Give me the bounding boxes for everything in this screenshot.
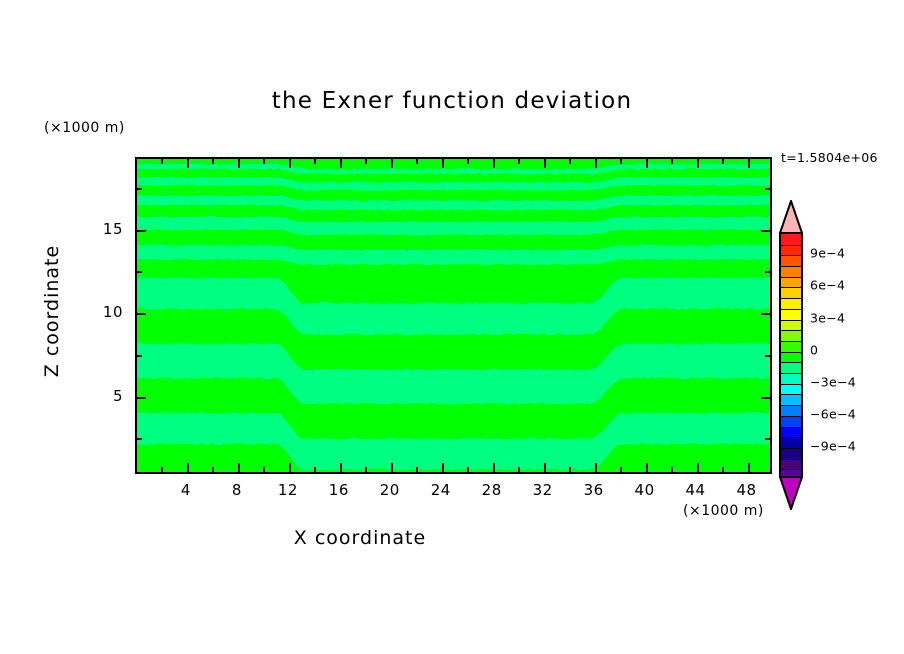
x-tick <box>493 159 495 168</box>
colorbar-band <box>781 287 801 298</box>
colorbar-band-divider <box>781 437 801 438</box>
colorbar-band <box>781 330 801 341</box>
y-tick <box>137 230 146 232</box>
x-tick <box>161 159 163 164</box>
x-tick <box>620 467 622 472</box>
colorbar-band-divider <box>781 469 801 470</box>
x-tick <box>748 159 750 168</box>
colorbar-band-divider <box>781 277 801 278</box>
x-tick <box>212 467 214 472</box>
colorbar-tick-label: 0 <box>810 342 818 357</box>
x-tick <box>238 159 240 168</box>
colorbar-band-divider <box>781 341 801 342</box>
colorbar-band-divider <box>781 362 801 363</box>
colorbar-band <box>781 427 801 438</box>
x-tick <box>314 467 316 472</box>
colorbar-band-divider <box>781 384 801 385</box>
contour-plot-area[interactable] <box>135 157 772 474</box>
colorbar-band <box>781 341 801 352</box>
x-tick <box>161 467 163 472</box>
x-tick <box>620 159 622 164</box>
y-axis-unit-label: (×1000 m) <box>44 120 125 136</box>
colorbar-band-divider <box>781 405 801 406</box>
time-annotation: t=1.5804e+06 <box>781 150 878 165</box>
colorbar-tick-label: 6e−4 <box>810 278 845 293</box>
x-tick-label: 20 <box>380 481 400 499</box>
y-tick <box>137 355 142 357</box>
x-tick <box>340 159 342 168</box>
x-tick-label: 16 <box>329 481 349 499</box>
y-tick <box>137 271 142 273</box>
y-tick <box>137 313 146 315</box>
x-tick <box>467 159 469 164</box>
x-tick <box>187 159 189 168</box>
x-tick-label: 32 <box>533 481 553 499</box>
x-tick <box>697 159 699 168</box>
colorbar-tick-label: −3e−4 <box>810 374 856 389</box>
x-tick <box>493 463 495 472</box>
colorbar-band <box>781 373 801 384</box>
colorbar-band <box>781 405 801 416</box>
y-tick <box>137 188 142 190</box>
x-tick <box>212 159 214 164</box>
x-tick <box>289 463 291 472</box>
x-tick <box>442 159 444 168</box>
x-tick-label: 40 <box>635 481 655 499</box>
colorbar-band-divider <box>781 330 801 331</box>
colorbar-band <box>781 245 801 256</box>
colorbar-band <box>781 234 801 245</box>
page-title: the Exner function deviation <box>0 88 904 114</box>
colorbar-band <box>781 320 801 331</box>
colorbar-band <box>781 448 801 459</box>
colorbar-band <box>781 459 801 470</box>
x-tick <box>340 463 342 472</box>
y-axis-title: Z coordinate <box>41 231 63 391</box>
x-tick <box>544 159 546 168</box>
colorbar-band <box>781 255 801 266</box>
x-tick <box>646 159 648 168</box>
y-tick <box>761 397 770 399</box>
y-tick <box>765 271 770 273</box>
x-tick <box>595 463 597 472</box>
colorbar-band-divider <box>781 320 801 321</box>
colorbar-band-divider <box>781 352 801 353</box>
y-tick <box>765 355 770 357</box>
colorbar-band-divider <box>781 298 801 299</box>
x-tick <box>365 159 367 164</box>
colorbar-band-divider <box>781 459 801 460</box>
x-tick <box>722 467 724 472</box>
colorbar-tick-label: −6e−4 <box>810 406 856 421</box>
y-tick <box>765 188 770 190</box>
x-tick <box>544 463 546 472</box>
colorbar-tick-label: 3e−4 <box>810 310 845 325</box>
x-tick <box>263 159 265 164</box>
colorbar-band-divider <box>781 287 801 288</box>
contour-field <box>137 159 770 472</box>
x-tick <box>722 159 724 164</box>
x-axis-unit-label: (×1000 m) <box>683 503 764 519</box>
colorbar-band <box>781 352 801 363</box>
x-tick <box>697 463 699 472</box>
x-tick-label: 44 <box>686 481 706 499</box>
colorbar-band <box>781 309 801 320</box>
colorbar-tick-label: 9e−4 <box>810 246 845 261</box>
colorbar-bands <box>779 232 803 478</box>
colorbar-band <box>781 437 801 448</box>
x-tick-label: 24 <box>431 481 451 499</box>
x-tick-label: 36 <box>584 481 604 499</box>
y-tick-label: 5 <box>83 387 123 405</box>
y-tick <box>137 397 146 399</box>
x-tick <box>416 467 418 472</box>
x-tick-label: 48 <box>736 481 756 499</box>
x-tick <box>187 463 189 472</box>
colorbar-band <box>781 298 801 309</box>
x-tick <box>748 463 750 472</box>
x-tick <box>263 467 265 472</box>
y-tick <box>765 438 770 440</box>
colorbar[interactable]: 9e−46e−43e−40−3e−4−6e−4−9e−4 <box>779 200 805 510</box>
x-tick <box>518 159 520 164</box>
x-tick <box>518 467 520 472</box>
x-tick <box>365 467 367 472</box>
y-tick <box>137 438 142 440</box>
y-tick-label: 15 <box>83 220 123 238</box>
colorbar-band <box>781 394 801 405</box>
x-tick-label: 8 <box>232 481 242 499</box>
x-tick <box>569 467 571 472</box>
colorbar-band-divider <box>781 245 801 246</box>
colorbar-band-divider <box>781 309 801 310</box>
y-tick <box>761 230 770 232</box>
colorbar-tick-label: −9e−4 <box>810 438 856 453</box>
colorbar-band-divider <box>781 373 801 374</box>
x-axis-title: X coordinate <box>0 527 720 549</box>
x-tick <box>391 159 393 168</box>
x-tick <box>467 467 469 472</box>
x-tick <box>442 463 444 472</box>
x-tick <box>595 159 597 168</box>
x-tick <box>671 467 673 472</box>
x-tick <box>314 159 316 164</box>
x-tick-label: 4 <box>181 481 191 499</box>
x-tick <box>391 463 393 472</box>
y-tick <box>761 313 770 315</box>
colorbar-under-arrow-icon <box>779 476 803 510</box>
colorbar-band-divider <box>781 448 801 449</box>
x-tick-label: 12 <box>278 481 298 499</box>
colorbar-band-divider <box>781 427 801 428</box>
colorbar-band <box>781 416 801 427</box>
colorbar-band <box>781 266 801 277</box>
y-tick-label: 10 <box>83 303 123 321</box>
colorbar-band <box>781 277 801 288</box>
x-tick-label: 28 <box>482 481 502 499</box>
colorbar-band-divider <box>781 255 801 256</box>
colorbar-band <box>781 384 801 395</box>
colorbar-band-divider <box>781 266 801 267</box>
colorbar-band <box>781 362 801 373</box>
x-tick <box>238 463 240 472</box>
x-tick <box>646 463 648 472</box>
x-tick <box>416 159 418 164</box>
x-tick <box>569 159 571 164</box>
x-tick <box>289 159 291 168</box>
colorbar-band-divider <box>781 394 801 395</box>
colorbar-over-arrow-icon <box>779 200 803 234</box>
colorbar-band-divider <box>781 416 801 417</box>
x-tick <box>671 159 673 164</box>
